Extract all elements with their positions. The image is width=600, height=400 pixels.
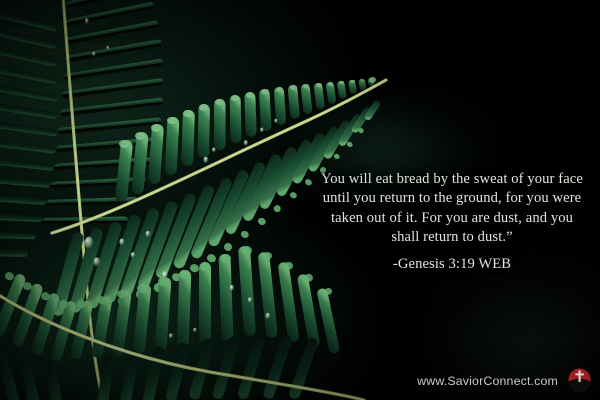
saviorconnect-cross-logo[interactable] (567, 367, 592, 392)
website-url[interactable]: www.SaviorConnect.com (417, 374, 558, 388)
image-canvas: You will eat bread by the sweat of your … (0, 0, 600, 400)
verse-line-2: until you return to the ground, for you … (316, 189, 588, 208)
scripture-verse-text: You will eat bread by the sweat of your … (316, 170, 588, 274)
footer-bar: www.SaviorConnect.com (0, 364, 600, 392)
verse-line-3: taken out of it. For you are dust, and y… (316, 209, 588, 228)
verse-attribution: -Genesis 3:19 WEB (316, 255, 588, 274)
verse-line-4: shall return to dust.” (316, 228, 588, 247)
verse-line-1: You will eat bread by the sweat of your … (316, 170, 588, 189)
